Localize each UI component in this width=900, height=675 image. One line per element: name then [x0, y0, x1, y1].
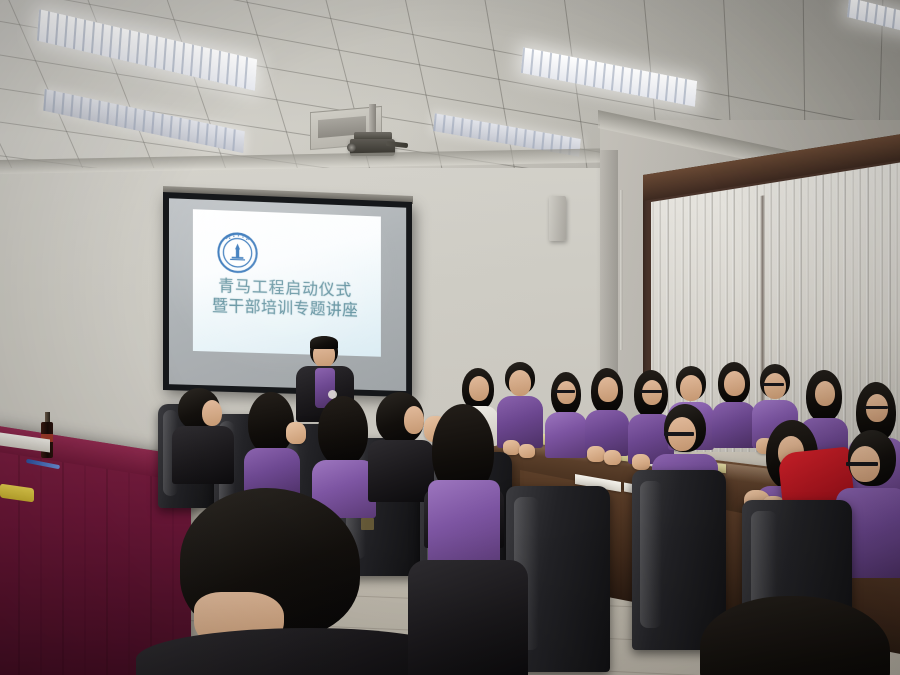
chair-label-tag	[361, 518, 374, 530]
attendee-face	[202, 400, 222, 426]
attendee-hand	[519, 444, 535, 458]
attendee-hand	[632, 454, 650, 470]
attendee-face	[469, 376, 489, 401]
attendee-jacket	[408, 560, 528, 675]
eyeglasses-icon	[640, 390, 662, 393]
eyeglasses-icon	[664, 432, 694, 436]
presentation-slide: 青马工程启动仪式 暨干部培训专题讲座	[193, 209, 381, 357]
attendee-jacket	[368, 440, 434, 502]
attendee-hand	[286, 422, 306, 444]
university-emblem-icon	[217, 231, 259, 274]
chair-highlight	[640, 481, 663, 629]
attendee-hair	[318, 396, 368, 466]
presenter-hair	[310, 336, 338, 349]
attendee-hand	[604, 450, 621, 465]
attendee-face	[680, 375, 702, 401]
wall-speaker	[549, 196, 566, 241]
projection-surface: 青马工程启动仪式 暨干部培训专题讲座	[169, 198, 406, 391]
attendee-face	[404, 406, 424, 434]
attendee-shirt	[712, 402, 756, 448]
attendee-hand	[587, 446, 605, 462]
projection-screen: 青马工程启动仪式 暨干部培训专题讲座	[163, 192, 412, 397]
meeting-room-photo: 青马工程启动仪式 暨干部培训专题讲座	[0, 0, 900, 675]
attendee-face	[815, 381, 835, 406]
attendee-face	[764, 373, 786, 399]
attendee-jacket	[172, 426, 234, 484]
eyeglasses-icon	[762, 383, 784, 386]
attendee-hair	[248, 392, 294, 454]
slide-title: 青马工程启动仪式 暨干部培训专题讲座	[193, 275, 377, 321]
wall-conduit-pipe	[620, 190, 623, 350]
projector-lens-icon	[347, 143, 356, 152]
attendee-face	[598, 377, 618, 402]
attendee-shirt	[428, 480, 500, 570]
attendee-face	[509, 370, 531, 396]
eyeglasses-icon	[864, 406, 888, 409]
attendee-shirt	[545, 412, 587, 458]
eyeglasses-icon	[555, 390, 575, 393]
attendee-face	[724, 371, 745, 396]
attendee-shirt	[497, 396, 543, 448]
eyeglasses-icon	[846, 462, 878, 466]
